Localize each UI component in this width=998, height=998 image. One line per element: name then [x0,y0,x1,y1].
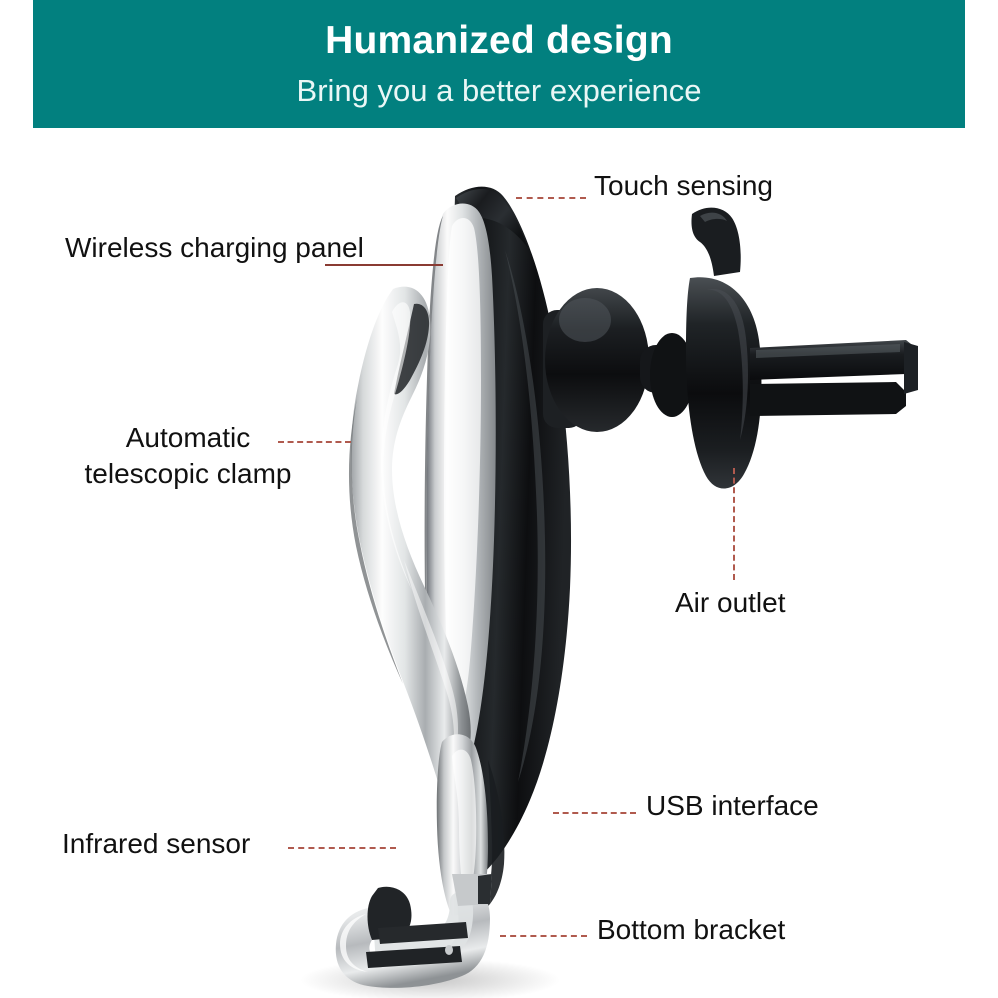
leader-line-usb-interface [553,812,636,814]
vent-blade-lower [750,382,906,416]
charger-lower-body-shadow [484,760,504,910]
ball-joint-disc-highlight [559,298,611,342]
callout-label-usb-interface: USB interface [646,788,819,824]
vent-blade-end-tab [904,342,918,394]
vent-blade-upper [750,340,916,380]
vent-blade-upper-sheen [756,344,900,358]
wireless-charging-panel-surface [427,204,496,773]
secondary-knob [650,333,694,417]
automatic-telescopic-clamp-arm [351,287,471,782]
charger-lower-body-chrome [437,734,488,916]
bottom-bracket-outer [336,890,490,988]
callout-label-wireless-charging-panel: Wireless charging panel [65,230,364,266]
bottom-bracket-lip-highlight [340,914,368,972]
callout-label-automatic-telescopic-clamp: Automatic telescopic clamp [62,420,314,492]
page-subtitle: Bring you a better experience [33,72,965,110]
bottom-bracket-inner-arm [374,892,473,966]
leader-line-infrared-sensor [288,847,396,849]
header-banner: Humanized design Bring you a better expe… [33,0,965,128]
wireless-charging-panel-edge [425,216,443,764]
clamp-specular-highlight [381,302,412,590]
vent-clip-body-highlight [706,289,748,440]
wireless-charging-panel-highlight [444,218,481,719]
ball-joint-neck [543,310,583,428]
ball-joint-disc [545,288,649,432]
clamp-lower-sheen [404,560,458,762]
vent-clip-body [686,277,761,488]
callout-label-infrared-sensor: Infrared sensor [62,826,250,862]
bottom-bracket-pad-upper-strip [378,922,468,944]
vent-clip-upper-hook [691,208,740,276]
callout-label-automatic-telescopic-clamp-line1: Automatic [62,420,314,456]
charger-body-black [452,187,571,888]
leader-line-air-outlet [733,468,735,580]
leader-line-bottom-bracket [500,935,587,937]
clamp-hook-notch [394,304,429,395]
charger-body-gloss [505,250,545,782]
bottom-bracket-pad-lower [366,946,462,968]
bottom-bracket-stem-dark [478,874,492,904]
connecting-shaft [640,345,706,393]
bottom-bracket-detail-dot [445,945,453,955]
product-feature-diagram: Humanized design Bring you a better expe… [0,0,998,998]
clamp-left-edge [349,398,403,684]
charger-lower-body-highlight [452,750,476,904]
callout-label-air-outlet: Air outlet [675,585,786,621]
product-shadow [300,958,560,998]
leader-line-touch-sensing [516,197,586,199]
callout-label-touch-sensing: Touch sensing [594,168,773,204]
page-title: Humanized design [33,18,965,64]
vent-clip-upper-hook-highlight [700,213,727,222]
bottom-bracket-stem [452,874,492,906]
callout-label-bottom-bracket: Bottom bracket [597,912,785,948]
callout-label-automatic-telescopic-clamp-line2: telescopic clamp [62,456,314,492]
bottom-bracket-pad-upper [368,887,412,940]
